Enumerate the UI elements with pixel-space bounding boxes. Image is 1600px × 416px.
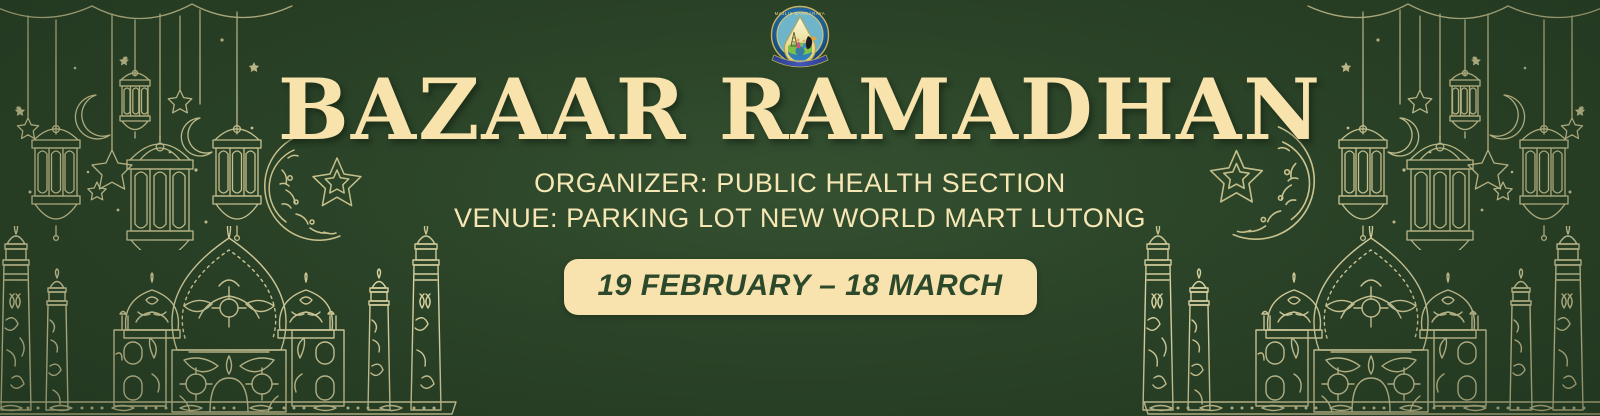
date-badge: 19 FEBRUARY – 18 MARCH xyxy=(564,259,1037,315)
page-title: BAZAAR RAMADHAN xyxy=(278,68,1322,152)
svg-text:MAJLIS BANDARAYA: MAJLIS BANDARAYA xyxy=(775,11,826,16)
bazaar-ramadhan-banner: MAJLIS BANDARAYA MIRI BAZAAR xyxy=(0,0,1600,416)
banner-content: MAJLIS BANDARAYA MIRI BAZAAR xyxy=(0,0,1600,416)
venue-line: VENUE: PARKING LOT NEW WORLD MART LUTONG xyxy=(454,201,1146,236)
organizer-line: ORGANIZER: PUBLIC HEALTH SECTION xyxy=(454,166,1146,201)
event-details: ORGANIZER: PUBLIC HEALTH SECTION VENUE: … xyxy=(454,166,1146,237)
